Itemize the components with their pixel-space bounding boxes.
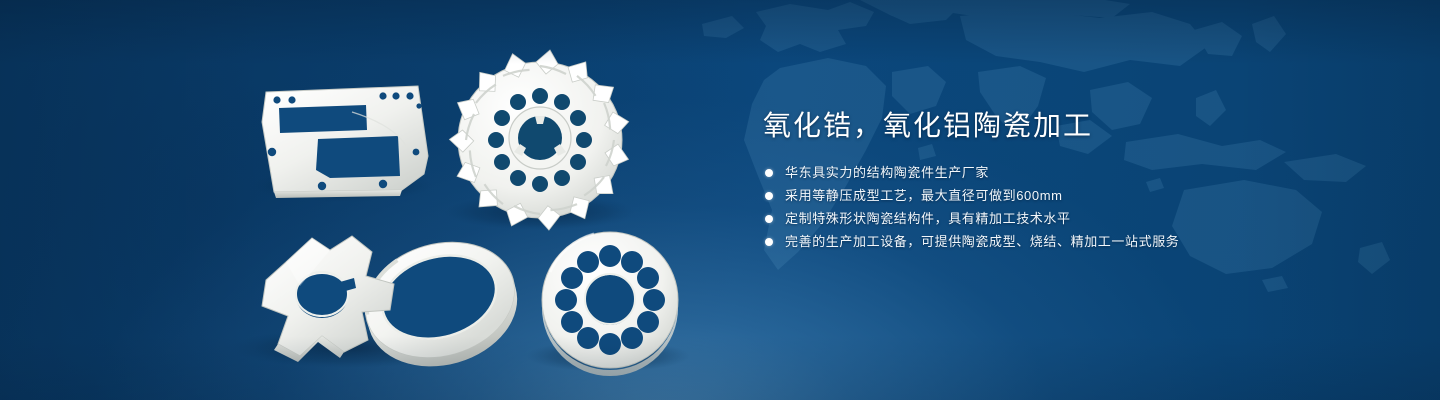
banner-bullet-list: 华东具实力的结构陶瓷件生产厂家 采用等静压成型工艺，最大直径可做到600mm 定… [763, 162, 1383, 253]
bullet-dot-icon [765, 169, 773, 177]
banner-copy: 氧化锆，氧化铝陶瓷加工 华东具实力的结构陶瓷件生产厂家 采用等静压成型工艺，最大… [763, 106, 1383, 253]
ceramic-parts-photo [0, 0, 720, 400]
ceramic-processing-banner: 氧化锆，氧化铝陶瓷加工 华东具实力的结构陶瓷件生产厂家 采用等静压成型工艺，最大… [0, 0, 1440, 400]
list-item: 采用等静压成型工艺，最大直径可做到600mm [763, 185, 1383, 207]
list-item: 华东具实力的结构陶瓷件生产厂家 [763, 162, 1383, 184]
list-item: 完善的生产加工设备，可提供陶瓷成型、烧结、精加工一站式服务 [763, 231, 1383, 253]
list-item: 定制特殊形状陶瓷结构件，具有精加工技术水平 [763, 208, 1383, 230]
banner-headline: 氧化锆，氧化铝陶瓷加工 [763, 106, 1383, 146]
ceramic-machined-plate [262, 86, 428, 198]
bullet-text: 华东具实力的结构陶瓷件生产厂家 [785, 162, 989, 184]
ceramic-perforated-disc [542, 232, 678, 376]
bullet-dot-icon [765, 238, 773, 246]
bullet-text: 采用等静压成型工艺，最大直径可做到600mm [785, 185, 1063, 207]
bullet-dot-icon [765, 192, 773, 200]
bullet-text: 完善的生产加工设备，可提供陶瓷成型、烧结、精加工一站式服务 [785, 231, 1179, 253]
bullet-dot-icon [765, 215, 773, 223]
bullet-text: 定制特殊形状陶瓷结构件，具有精加工技术水平 [785, 208, 1071, 230]
